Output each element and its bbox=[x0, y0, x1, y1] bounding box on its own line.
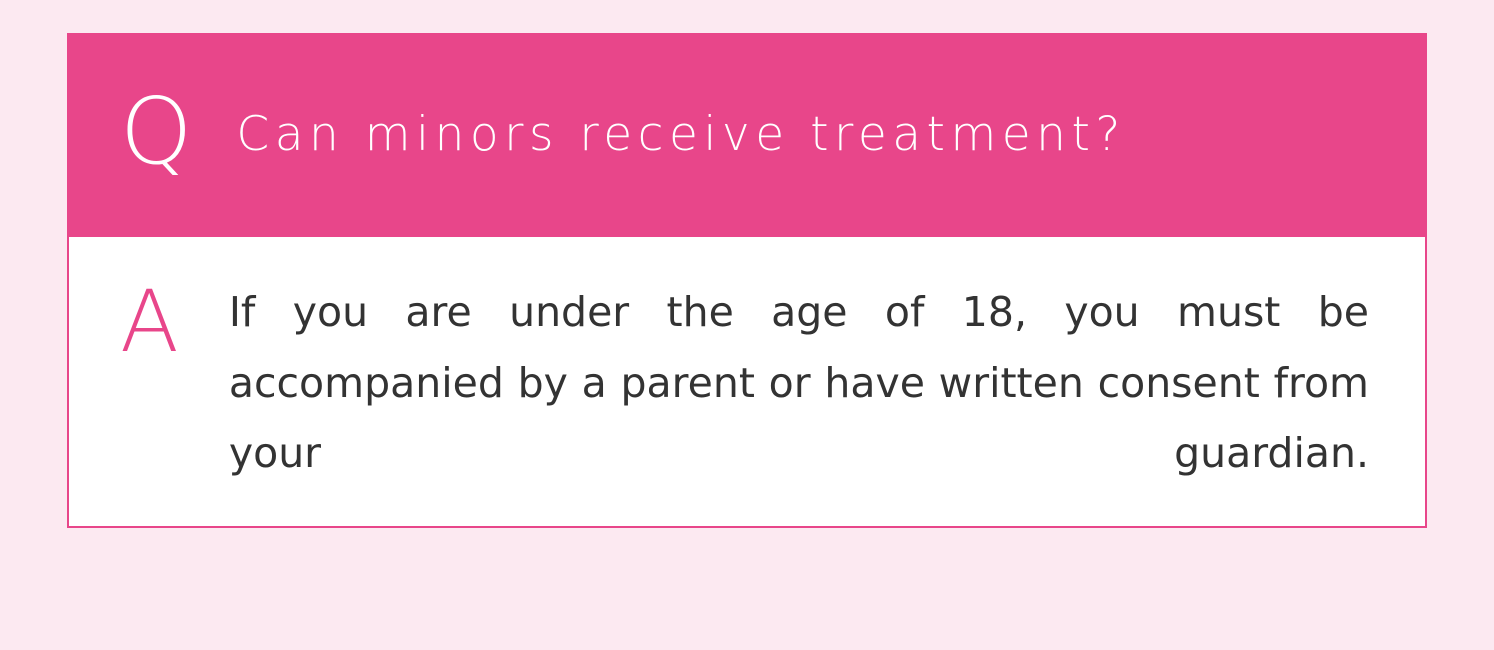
faq-answer-body: A If you are under the age of 18, you mu… bbox=[67, 237, 1427, 528]
answer-marker-letter: A bbox=[120, 279, 179, 496]
faq-card: Q Can minors receive treatment? A If you… bbox=[67, 33, 1427, 528]
faq-answer-text: If you are under the age of 18, you must… bbox=[229, 277, 1369, 496]
faq-question-header: Q Can minors receive treatment? bbox=[67, 33, 1427, 237]
faq-question-text: Can minors receive treatment? bbox=[236, 109, 1125, 161]
question-marker-letter: Q bbox=[120, 86, 192, 178]
